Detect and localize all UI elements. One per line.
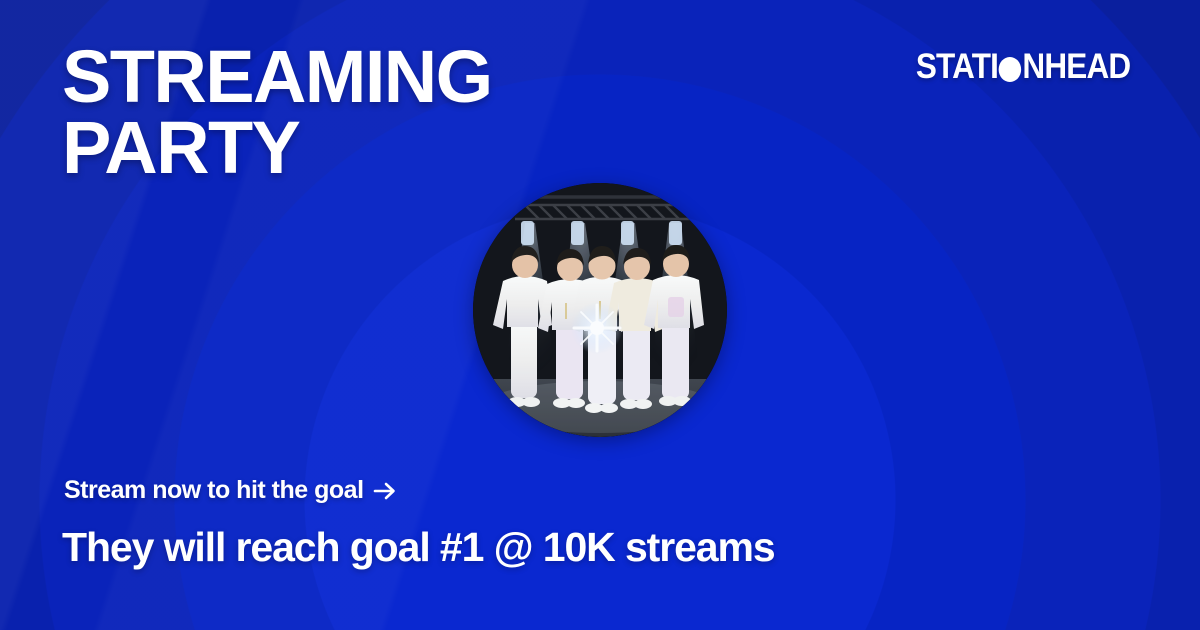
stationhead-logo: STATI NHEAD [915, 47, 1130, 87]
artist-avatar [473, 183, 727, 437]
cta-line: Stream now to hit the goal [64, 476, 397, 505]
arrow-right-icon [373, 481, 397, 501]
logo-text-second: NHEAD [1022, 47, 1130, 87]
page-title: STREAMING PARTY [62, 41, 492, 183]
streaming-party-banner: STREAMING PARTY STATI NHEAD [0, 0, 1200, 630]
filled-circle-o-icon [999, 57, 1022, 82]
cta-label: Stream now to hit the goal [64, 476, 364, 505]
logo-text-first: STATI [915, 47, 997, 87]
artist-photo-illustration [473, 183, 727, 437]
goal-statement: They will reach goal #1 @ 10K streams [62, 524, 775, 571]
